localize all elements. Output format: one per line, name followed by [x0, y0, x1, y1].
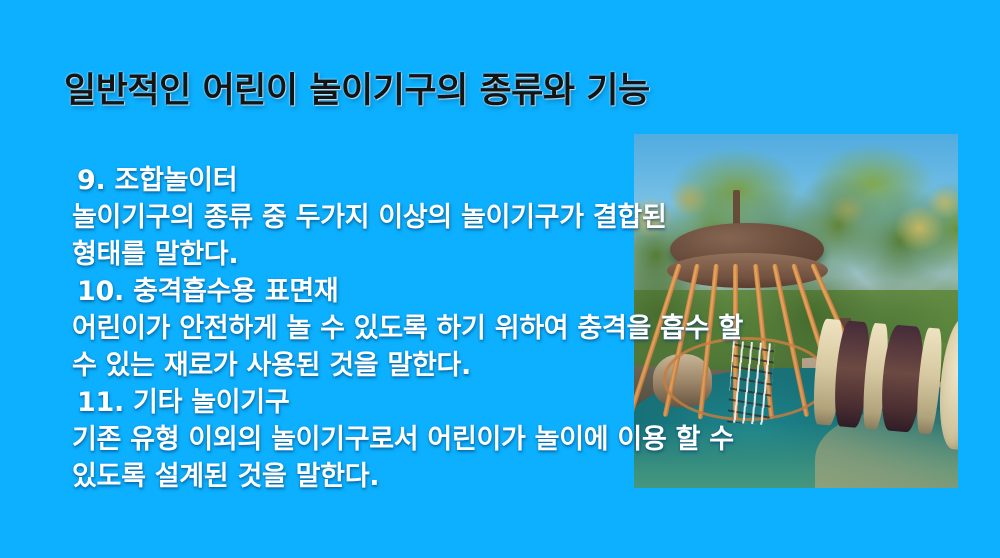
body-line: 수 있는 재로가 사용된 것을 말한다. [72, 347, 972, 384]
presentation-slide: 일반적인 어린이 놀이기구의 종류와 기능 9. 조합놀이터 놀이기구의 종류 … [0, 0, 1000, 558]
body-line: 기존 유형 이외의 놀이기구로서 어린이가 놀이에 이용 할 수 [72, 421, 972, 458]
body-line: 어린이가 안전하게 놀 수 있도록 하기 위하여 충격을 흡수 할 [72, 310, 972, 347]
body-line-heading: 9. 조합놀이터 [72, 162, 972, 199]
slide-title: 일반적인 어린이 놀이기구의 종류와 기능 [64, 62, 650, 113]
body-line-heading: 11. 기타 놀이기구 [72, 384, 972, 421]
body-line: 있도록 설계된 것을 말한다. [72, 458, 972, 495]
slide-body-text: 9. 조합놀이터 놀이기구의 종류 중 두가지 이상의 놀이기구가 결합된 형태… [72, 162, 972, 495]
body-line: 형태를 말한다. [72, 236, 972, 273]
body-line-heading: 10. 충격흡수용 표면재 [72, 273, 972, 310]
body-line: 놀이기구의 종류 중 두가지 이상의 놀이기구가 결합된 [72, 199, 972, 236]
